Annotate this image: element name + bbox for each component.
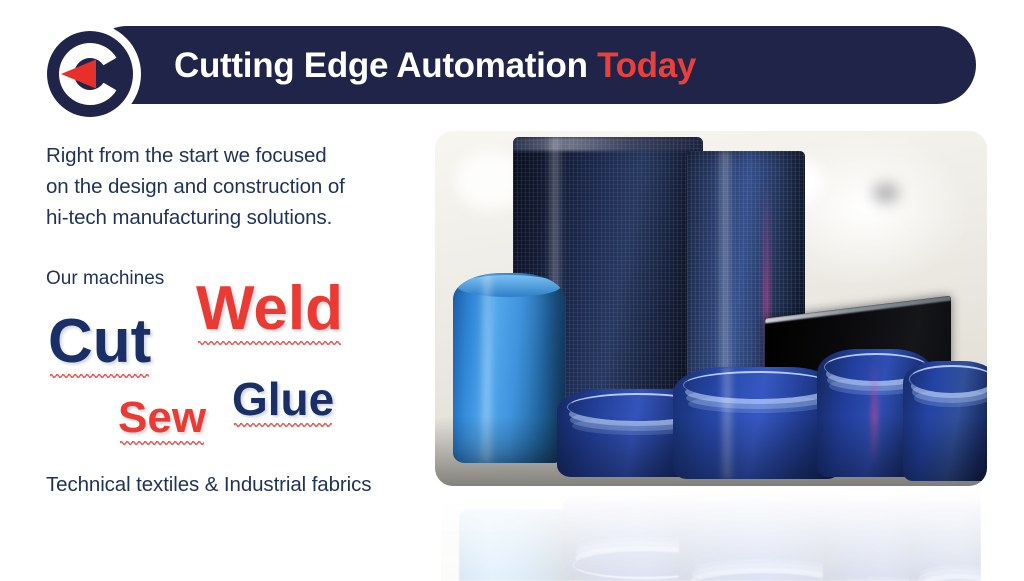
machine-capability-word-cloud: Cut Weld Sew Glue bbox=[0, 303, 432, 453]
page-title-accent: Today bbox=[597, 46, 696, 85]
machine-word-glue-text: Glue bbox=[232, 373, 334, 425]
spellcheck-squiggle-icon bbox=[120, 441, 204, 445]
intro-line-2: on the design and construction of bbox=[46, 175, 345, 199]
spellcheck-squiggle-icon bbox=[50, 374, 149, 378]
technical-fabric-rolls-photo bbox=[435, 131, 987, 486]
left-content-column: Right from the start we focused on the d… bbox=[0, 128, 432, 573]
company-c-logo-icon bbox=[47, 31, 133, 117]
machine-word-sew: Sew bbox=[118, 396, 206, 445]
spellcheck-squiggle-icon bbox=[234, 423, 332, 427]
intro-line-1: Right from the start we focused bbox=[46, 144, 327, 168]
page-title-primary: Cutting Edge Automation bbox=[174, 46, 588, 85]
machine-word-glue: Glue bbox=[232, 376, 334, 427]
machine-word-cut-text: Cut bbox=[48, 307, 151, 376]
photo-reflection bbox=[441, 486, 981, 581]
header-title-bar: Cutting Edge Automation Today bbox=[88, 26, 976, 104]
tagline: Technical textiles & Industrial fabrics bbox=[46, 473, 371, 497]
machine-word-weld-text: Weld bbox=[196, 274, 343, 343]
machine-word-sew-text: Sew bbox=[118, 393, 206, 442]
our-machines-label: Our machines bbox=[46, 268, 164, 290]
product-photo-block bbox=[435, 131, 987, 486]
page-title: Cutting Edge Automation Today bbox=[174, 48, 696, 83]
machine-word-cut: Cut bbox=[48, 311, 151, 378]
machine-word-weld: Weld bbox=[196, 278, 343, 345]
spellcheck-squiggle-icon bbox=[198, 341, 341, 345]
intro-line-3: hi-tech manufacturing solutions. bbox=[46, 206, 332, 230]
header-banner: Cutting Edge Automation Today bbox=[0, 0, 1024, 128]
